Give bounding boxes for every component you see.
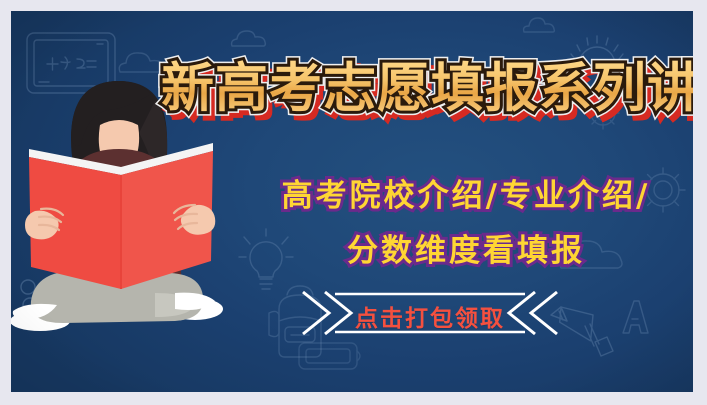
letter-a-icon [619,299,651,335]
cta-button[interactable]: 点击打包领取 [299,288,561,338]
subtitle-line-2-text: 分数维度看填报 [347,233,585,269]
cloud-icon [229,29,273,49]
page-title: 新高考志愿填报系列讲座 新高考志愿填报系列讲座 新高考志愿填报系列讲座 新高考志… [161,57,693,119]
subtitle-line-2: 分数维度看填报 分数维度看填报 [226,236,693,267]
whiteboard-icon [297,341,363,375]
poster-canvas: 新高考志愿填报系列讲座 新高考志愿填报系列讲座 新高考志愿填报系列讲座 新高考志… [11,11,693,392]
cta-button-label: 点击打包领取 [299,299,561,333]
page-title-text: 新高考志愿填报系列讲座 [161,58,693,119]
cloud-icon [521,16,561,36]
subtitle-line-1-text: 高考院校介绍/专业介绍/ [282,178,651,214]
poster-root: 新高考志愿填报系列讲座 新高考志愿填报系列讲座 新高考志愿填报系列讲座 新高考志… [0,0,707,405]
subtitle-line-1: 高考院校介绍/专业介绍/ 高考院校介绍/专业介绍/ [226,181,693,212]
